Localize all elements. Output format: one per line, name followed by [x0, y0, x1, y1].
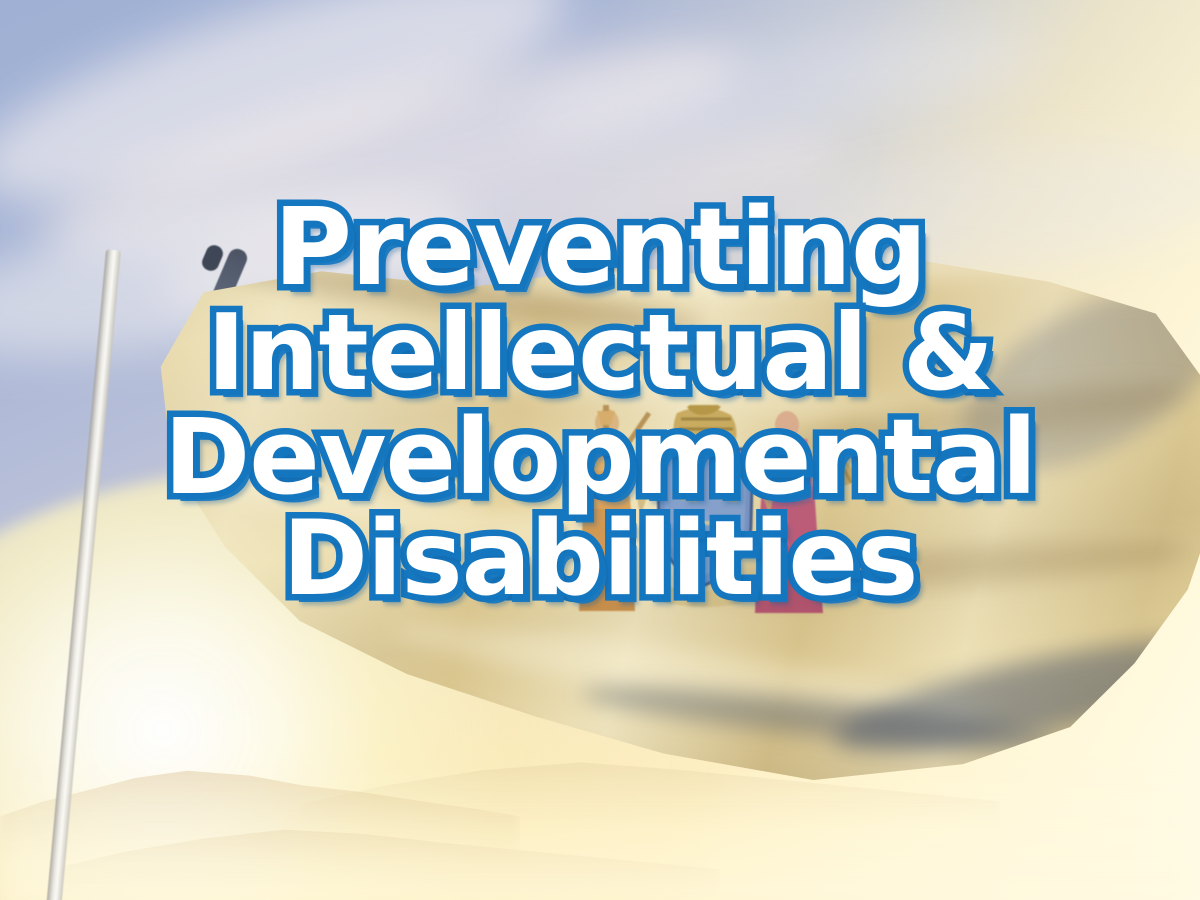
title-line-3: Developmental: [0, 406, 1200, 509]
page-title: Preventing Intellectual & Developmental …: [0, 196, 1200, 611]
fabric-fold: [579, 675, 1060, 761]
title-slide: Preventing Intellectual & Developmental …: [0, 0, 1200, 900]
fabric-fold: [242, 649, 538, 757]
fabric-fold: [827, 617, 1200, 773]
title-line-4: Disabilities: [0, 509, 1200, 611]
title-line-1: Preventing: [0, 196, 1200, 302]
title-line-2: Intellectual &: [0, 302, 1200, 406]
